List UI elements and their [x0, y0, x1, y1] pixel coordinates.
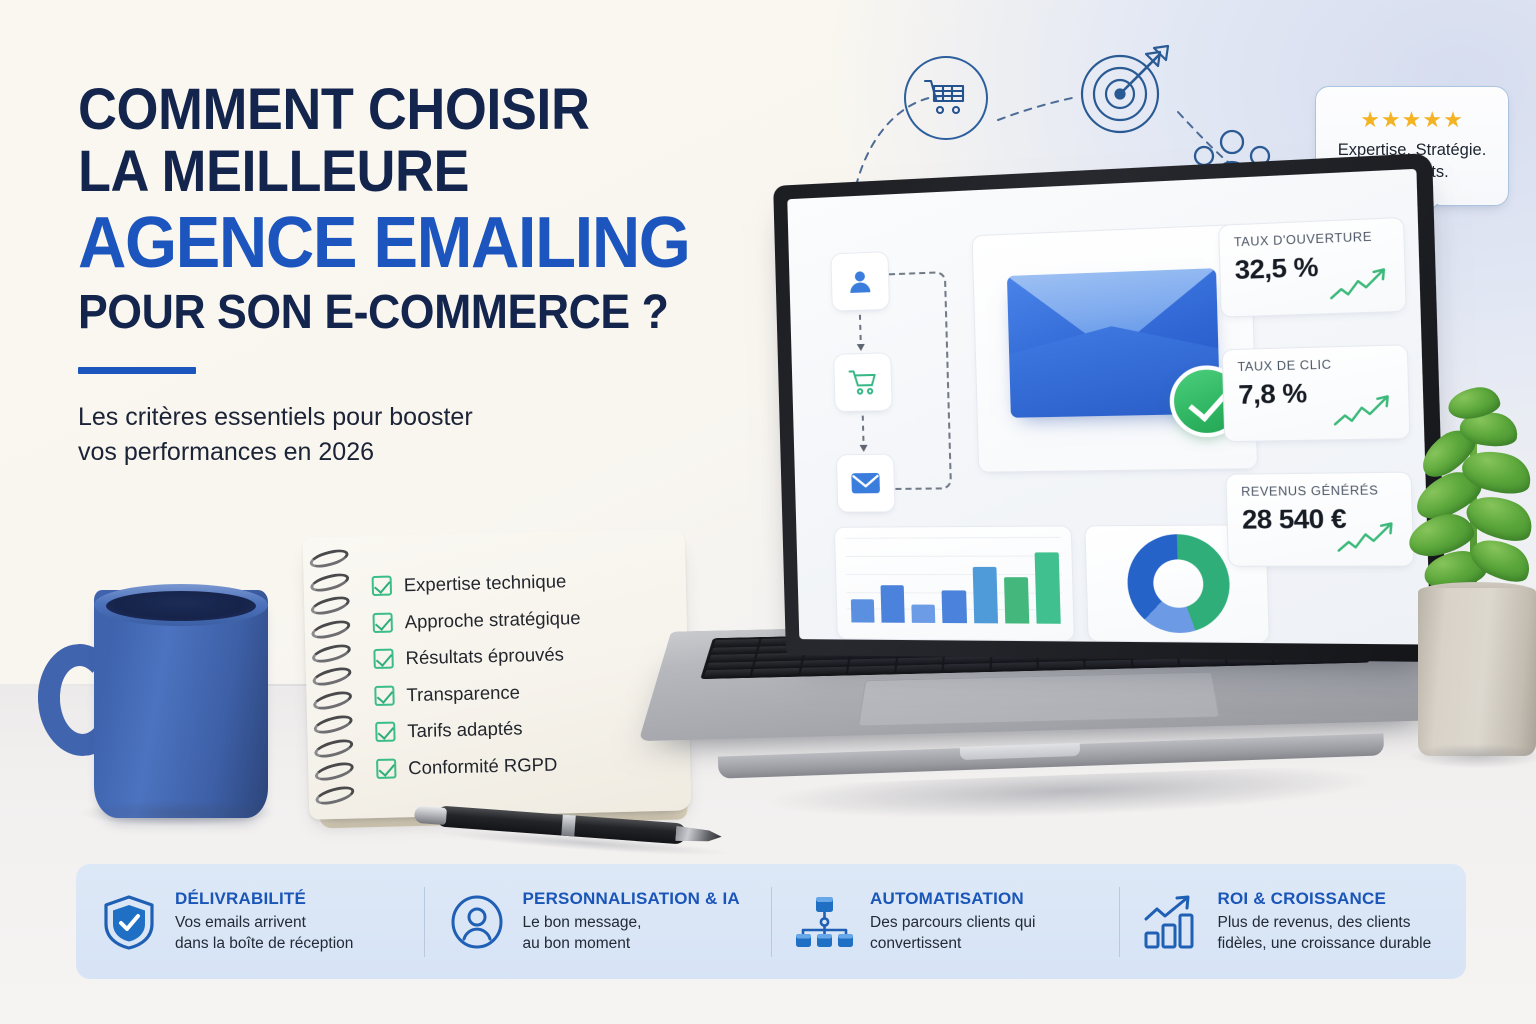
potted-plant	[1404, 380, 1536, 840]
bar	[942, 590, 967, 623]
headline-line-1: COMMENT CHOISIR	[78, 82, 729, 138]
envelope-delivered-icon	[1007, 268, 1220, 418]
checkbox-checked-icon[interactable]	[373, 649, 393, 669]
user-icon[interactable]	[830, 251, 890, 312]
kpi-label: TAUX DE CLIC	[1237, 358, 1392, 375]
pen-cap	[414, 806, 447, 825]
shopping-cart-icon	[904, 56, 988, 140]
flow-loop-connector	[889, 271, 952, 490]
checkbox-checked-icon[interactable]	[375, 722, 395, 742]
checkbox-checked-icon[interactable]	[376, 758, 396, 778]
bar-series	[849, 537, 1061, 624]
laptop-lid: TAUX D'OUVERTURE 32,5 % TAUX DE CLIC 7,8…	[773, 153, 1447, 662]
mail-icon[interactable]	[836, 453, 896, 512]
kpi-card-click-rate: TAUX DE CLIC 7,8 %	[1222, 344, 1411, 442]
accent-divider	[78, 367, 196, 374]
bar-chart-card	[834, 525, 1075, 641]
donut-center	[1153, 559, 1204, 607]
checklist-label: Résultats éprouvés	[405, 644, 564, 670]
feature-title: AUTOMATISATION	[870, 889, 1035, 909]
checkbox-checked-icon[interactable]	[372, 576, 392, 596]
checklist-label: Transparence	[406, 681, 520, 706]
laptop-trackpad[interactable]	[858, 672, 1220, 727]
feature-desc-line-1: Le bon message,	[523, 913, 740, 934]
feature-personalisation[interactable]: PERSONNALISATION & IA Le bon message, au…	[424, 883, 772, 961]
criteria-checklist: Expertise technique Approche stratégique…	[371, 561, 678, 787]
checklist-label: Conformité RGPD	[408, 753, 558, 779]
feature-text: AUTOMATISATION Des parcours clients qui …	[870, 889, 1035, 955]
trend-up-icon	[1336, 521, 1401, 556]
feature-bar: DÉLIVRABILITÉ Vos emails arrivent dans l…	[76, 864, 1466, 979]
feature-title: DÉLIVRABILITÉ	[175, 889, 353, 909]
feature-desc-line-2: dans la boîte de réception	[175, 934, 353, 955]
plant-shadow	[1410, 744, 1536, 768]
feature-desc-line-2: convertissent	[870, 934, 1035, 955]
feature-text: PERSONNALISATION & IA Le bon message, au…	[523, 889, 740, 955]
star-rating-icon: ★★★★★	[1360, 109, 1464, 131]
cart-icon[interactable]	[833, 352, 893, 412]
trend-up-icon	[1332, 394, 1397, 430]
laptop: TAUX D'OUVERTURE 32,5 % TAUX DE CLIC 7,8…	[660, 185, 1420, 825]
feature-deliverability[interactable]: DÉLIVRABILITÉ Vos emails arrivent dans l…	[76, 883, 424, 961]
feature-desc-line-1: Des parcours clients qui	[870, 913, 1035, 934]
kpi-label: TAUX D'OUVERTURE	[1234, 230, 1389, 249]
checklist-label: Tarifs adaptés	[407, 718, 523, 743]
flow-arrow-down-icon	[862, 416, 865, 450]
bar	[912, 604, 936, 623]
email-dashboard: TAUX D'OUVERTURE 32,5 % TAUX DE CLIC 7,8…	[812, 200, 1412, 616]
trend-up-icon	[1328, 267, 1393, 304]
pen-ring	[561, 815, 576, 837]
feature-title: ROI & CROISSANCE	[1218, 889, 1432, 909]
target-bullseye-icon	[1076, 44, 1172, 140]
envelope-card	[972, 223, 1259, 472]
bar	[1034, 553, 1060, 624]
shield-check-icon	[100, 893, 158, 951]
feature-desc-line-1: Vos emails arrivent	[175, 913, 353, 934]
bar	[851, 600, 875, 623]
notepad: Expertise technique Approche stratégique…	[303, 528, 692, 819]
feature-desc-line-2: au bon moment	[523, 934, 740, 955]
donut-chart	[1126, 534, 1231, 633]
flow-arrow-down-icon	[859, 315, 862, 349]
kpi-card-revenue: REVENUS GÉNÉRÉS 28 540 €	[1225, 472, 1414, 567]
list-item[interactable]: Conformité RGPD	[376, 743, 679, 787]
feature-text: DÉLIVRABILITÉ Vos emails arrivent dans l…	[175, 889, 353, 955]
feature-desc-line-2: fidèles, une croissance durable	[1218, 934, 1432, 955]
headline-line-2: LA MEILLEURE	[78, 144, 729, 200]
bar	[1004, 578, 1029, 624]
bar	[972, 566, 998, 623]
laptop-screen: TAUX D'OUVERTURE 32,5 % TAUX DE CLIC 7,8…	[787, 169, 1430, 645]
coffee-mug	[36, 586, 272, 824]
automation-flow	[830, 248, 958, 512]
workflow-hierarchy-icon	[795, 893, 853, 951]
feature-desc-line-1: Plus de revenus, des clients	[1218, 913, 1432, 934]
notepad-spiral-binding	[309, 551, 357, 804]
kpi-label: REVENUS GÉNÉRÉS	[1241, 485, 1396, 499]
bar	[881, 585, 905, 623]
mug-shadow	[78, 800, 278, 826]
checkbox-checked-icon[interactable]	[374, 685, 394, 705]
feature-title: PERSONNALISATION & IA	[523, 889, 740, 909]
kpi-card-open-rate: TAUX D'OUVERTURE 32,5 %	[1218, 217, 1407, 318]
headline-line-4: POUR SON E-COMMERCE ?	[78, 290, 729, 337]
feature-text: ROI & CROISSANCE Plus de revenus, des cl…	[1218, 889, 1432, 955]
infographic-canvas: COMMENT CHOISIR LA MEILLEURE AGENCE EMAI…	[0, 0, 1536, 1024]
growth-chart-icon	[1143, 893, 1201, 951]
plant-pot	[1418, 588, 1536, 756]
mug-interior	[106, 591, 256, 621]
checklist-label: Expertise technique	[404, 571, 567, 597]
headline-accent: AGENCE EMAILING	[78, 209, 729, 279]
checkbox-checked-icon[interactable]	[372, 612, 392, 632]
feature-automation[interactable]: AUTOMATISATION Des parcours clients qui …	[771, 883, 1119, 961]
user-circle-icon	[448, 893, 506, 951]
checklist-label: Approche stratégique	[404, 607, 580, 633]
feature-roi-growth[interactable]: ROI & CROISSANCE Plus de revenus, des cl…	[1119, 883, 1467, 961]
